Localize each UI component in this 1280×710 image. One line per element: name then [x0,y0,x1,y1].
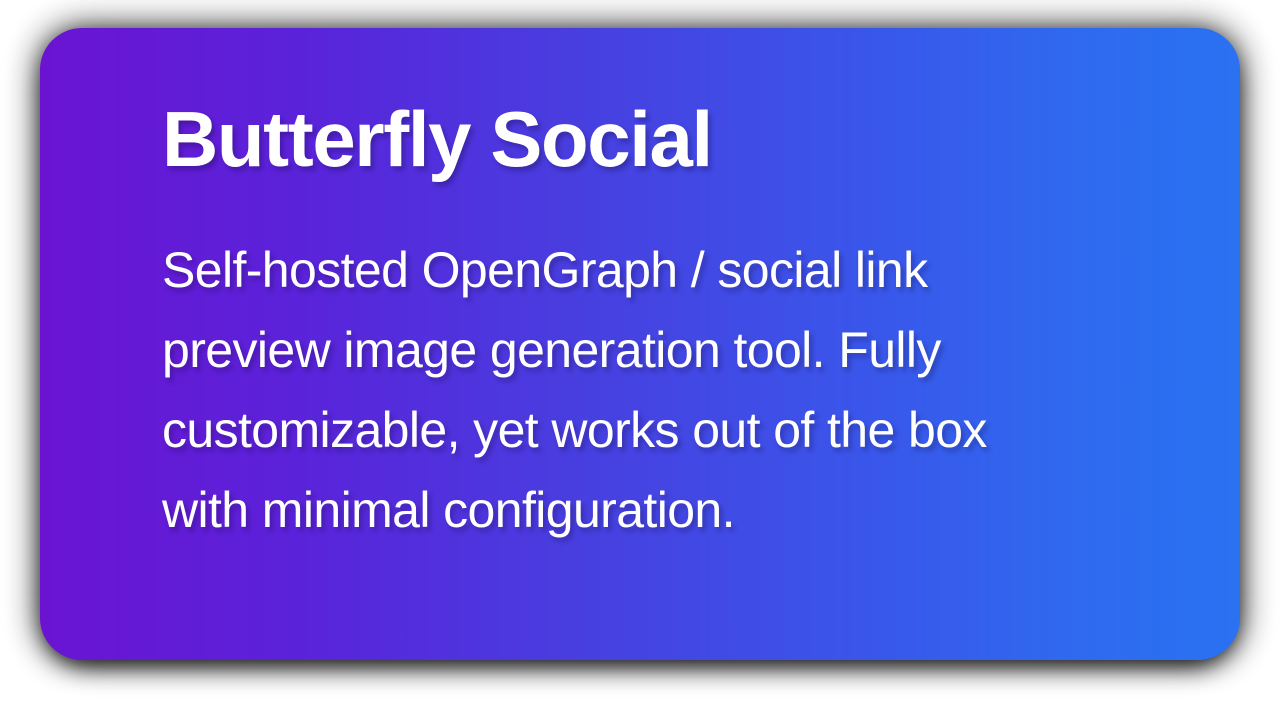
card-description: Self-hosted OpenGraph / social link prev… [162,188,1122,550]
social-preview-card: Butterfly Social Self-hosted OpenGraph /… [40,28,1240,660]
card-title: Butterfly Social [162,90,1144,188]
card-description-line: with minimal configuration. [162,470,1122,550]
card-description-line: customizable, yet works out of the box [162,390,1122,470]
card-description-line: Self-hosted OpenGraph / social link [162,230,1122,310]
preview-canvas: Butterfly Social Self-hosted OpenGraph /… [0,0,1280,710]
card-description-line: preview image generation tool. Fully [162,310,1122,390]
